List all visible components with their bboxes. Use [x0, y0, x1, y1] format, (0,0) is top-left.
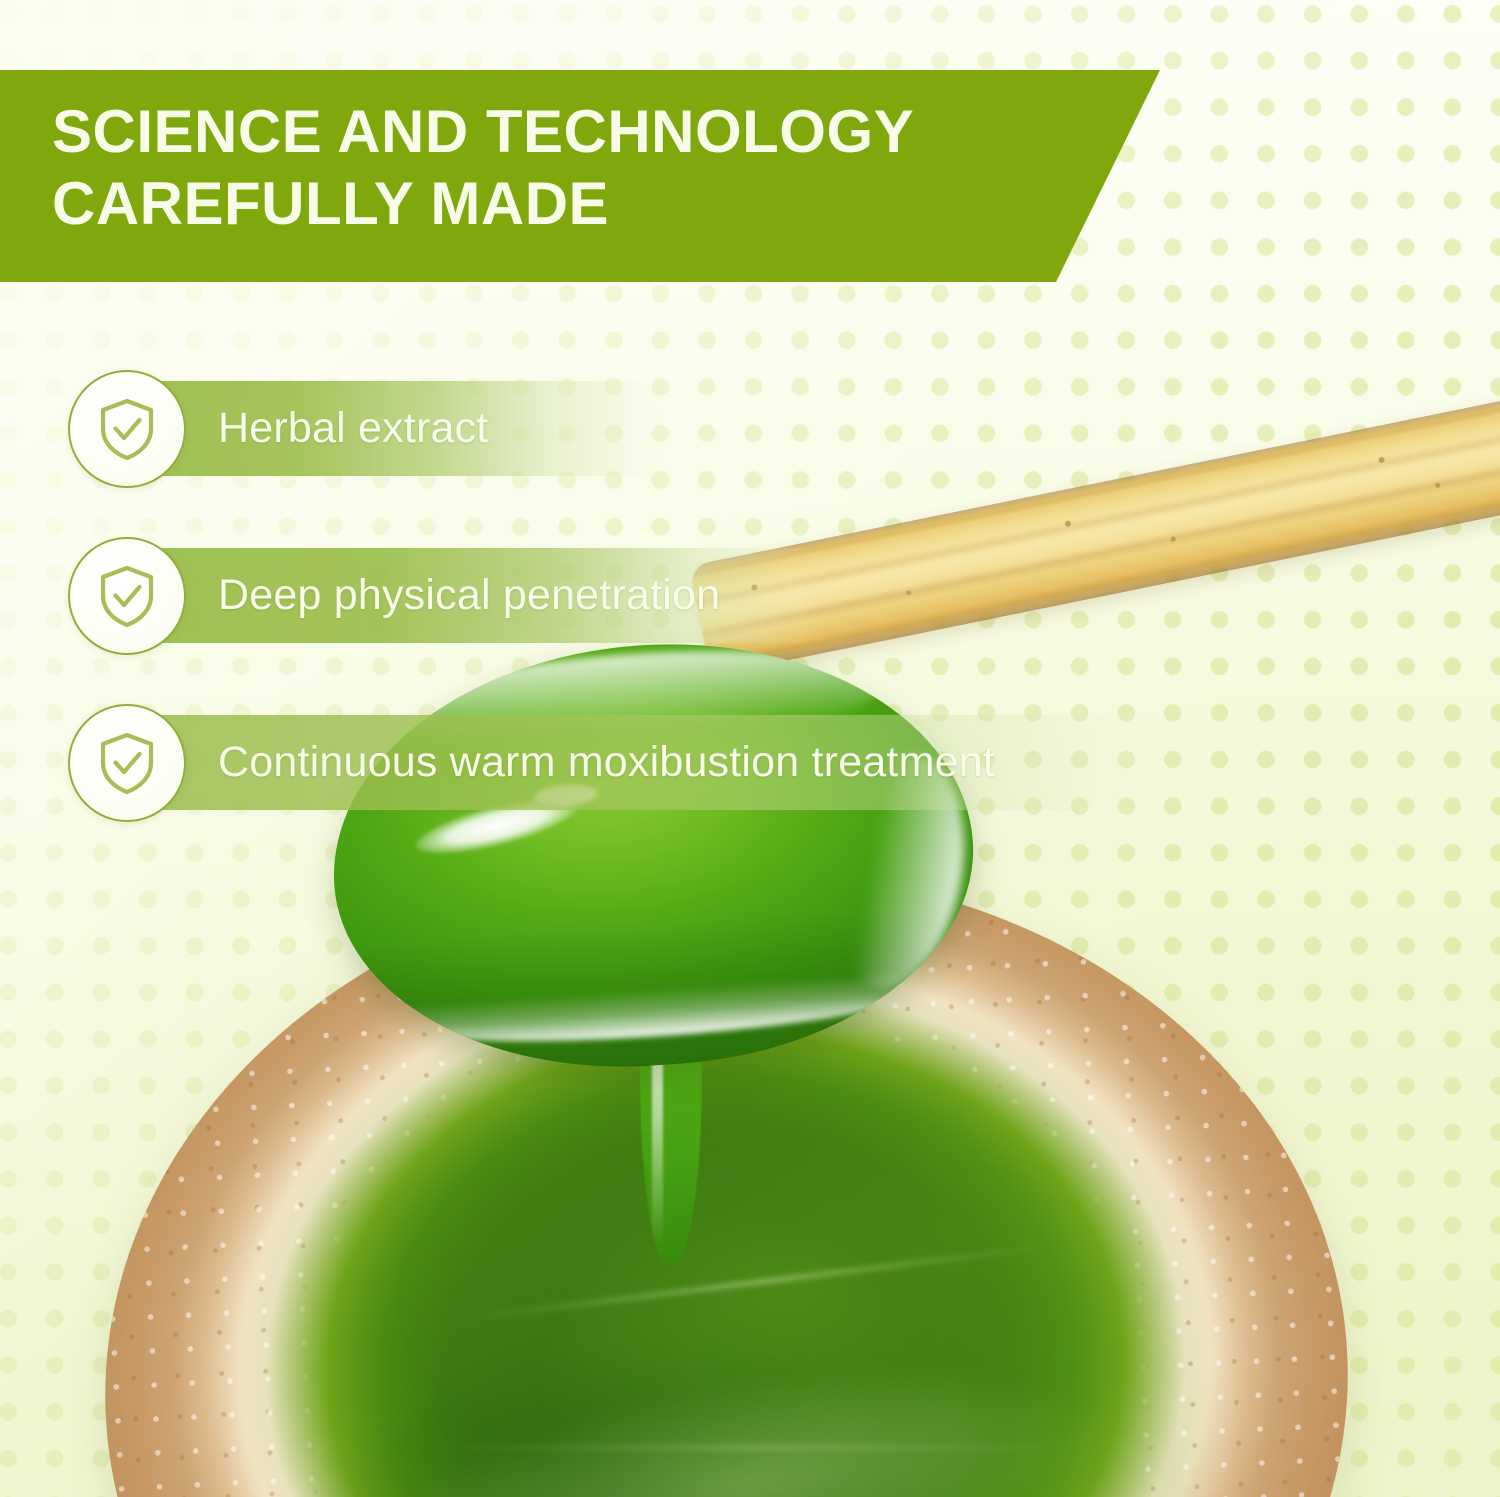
paste-drip-highlight	[652, 1050, 663, 1245]
headline-banner: SCIENCE AND TECHNOLOGY CAREFULLY MADE	[0, 70, 1160, 282]
shield-check-icon	[68, 704, 186, 822]
feature-label: Herbal extract	[218, 381, 488, 476]
product-feature-poster: Wooden spoon lifting thick glossy green …	[0, 0, 1500, 1497]
feature-item-deep-physical-penetration: Deep physical penetration	[68, 537, 1198, 655]
product-photo-alt: Wooden spoon lifting thick glossy green …	[0, 470, 1, 471]
shield-check-icon	[68, 370, 186, 488]
shield-check-icon	[68, 537, 186, 655]
headline-title: SCIENCE AND TECHNOLOGY CAREFULLY MADE	[52, 96, 1072, 240]
feature-label: Continuous warm moxibustion treatment	[218, 715, 995, 810]
feature-item-continuous-warm-moxibustion-treatment: Continuous warm moxibustion treatment	[68, 704, 1198, 822]
feature-label: Deep physical penetration	[218, 548, 720, 643]
feature-item-herbal-extract: Herbal extract	[68, 370, 1198, 488]
spoon-bowl-with-paste	[319, 623, 987, 1087]
